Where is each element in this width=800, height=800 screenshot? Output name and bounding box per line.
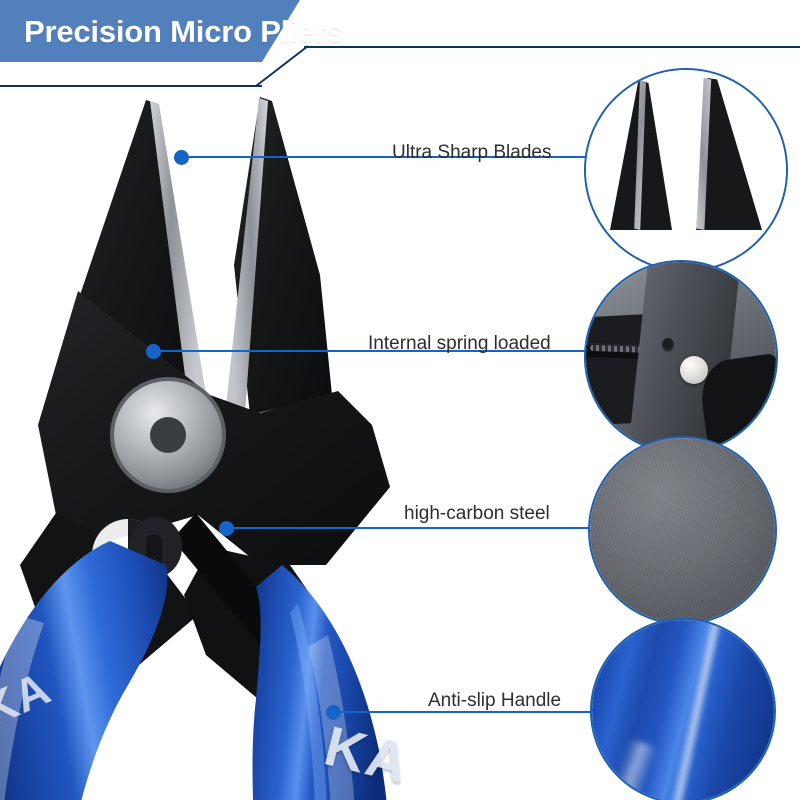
feature-label-ultra-sharp-blades: Ultra Sharp Blades [392, 142, 551, 164]
pivot-center-hole [150, 417, 186, 453]
feature-label-internal-spring-loaded: Internal spring loaded [368, 333, 551, 355]
steel-surface-inset[interactable] [590, 438, 775, 623]
infographic-canvas: Precision Micro Pliers [0, 0, 800, 800]
callout-dot-internal-spring-loaded[interactable] [146, 344, 161, 359]
callout-dot-anti-slip-handle[interactable] [326, 705, 341, 720]
inset-steel-texture [590, 438, 775, 623]
header-rule-top [304, 46, 800, 48]
blade-tips-inset[interactable] [586, 70, 786, 270]
callout-dot-ultra-sharp-blades[interactable] [174, 150, 189, 165]
inset-joint-rivet [680, 356, 708, 384]
header-rule-diagonal [250, 44, 312, 88]
spring-joint-inset[interactable] [586, 262, 776, 452]
inset-joint-hole [662, 338, 674, 352]
callout-dot-high-carbon-steel[interactable] [219, 521, 234, 536]
header-rule-bottom [0, 85, 262, 87]
callout-line-high-carbon-steel [226, 527, 590, 529]
product-illustration [0, 95, 430, 800]
page-title: Precision Micro Pliers [24, 14, 344, 50]
feature-label-anti-slip-handle: Anti-slip Handle [428, 690, 561, 712]
handle-inset[interactable] [592, 620, 774, 800]
feature-label-high-carbon-steel: high-carbon steel [404, 503, 550, 525]
